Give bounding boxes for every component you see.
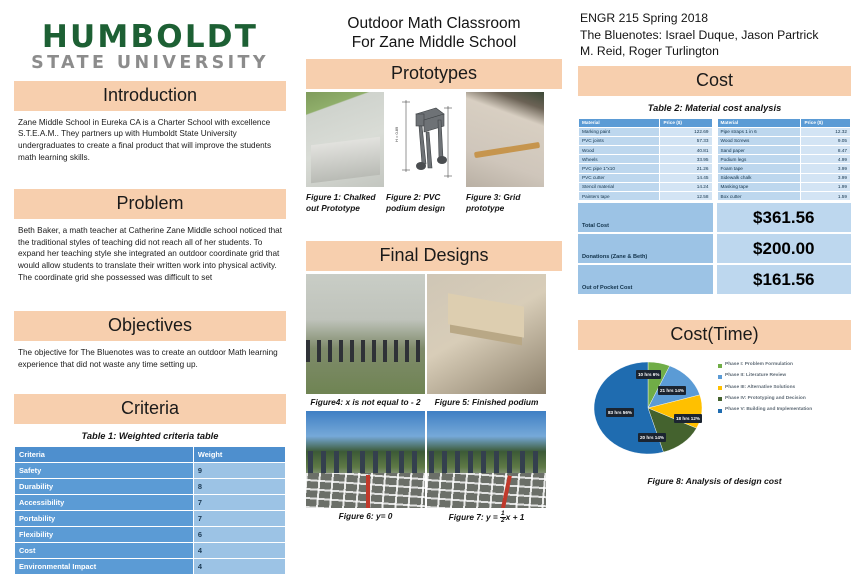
figure-2-image: H = 0.89 <box>386 92 464 187</box>
table-row: Masking tape1.99 <box>717 182 851 191</box>
figure-3-image <box>466 92 544 187</box>
course-line-3: M. Reid, Roger Turlington <box>580 43 851 60</box>
material-name: Sidewalk chalk <box>717 173 801 182</box>
table-row: PVC joints57.33 <box>579 136 713 145</box>
criteria-name: Safety <box>15 463 194 479</box>
course-line-1: ENGR 215 Spring 2018 <box>580 10 851 27</box>
material-price: 21.26 <box>660 164 712 173</box>
material-price: 12.58 <box>660 192 712 201</box>
table-row: Wheels33.95 <box>579 155 713 164</box>
figure-3-caption: Figure 3: Grid prototype <box>466 192 544 213</box>
out-of-pocket-value: $161.56 <box>717 265 851 294</box>
material-header: Material <box>579 118 660 127</box>
table-row: Wood40.81 <box>579 146 713 155</box>
legend-swatch-icon <box>718 397 722 401</box>
material-price: 3.99 <box>801 164 851 173</box>
table-row: Marking paint122.69 <box>579 127 713 136</box>
pie-label-phase-2: 21 hrs 14% <box>658 386 686 394</box>
middle-column: Outdoor Math Classroom For Zane Middle S… <box>300 0 568 576</box>
material-name: Wheels <box>579 155 660 164</box>
legend-label: Phase I: Problem Formulation <box>725 362 793 368</box>
section-heading-criteria: Criteria <box>14 394 286 424</box>
problem-text: Beth Baker, a math teacher at Catherine … <box>14 219 286 283</box>
material-price: 4.99 <box>801 155 851 164</box>
section-heading-cost: Cost <box>578 66 851 96</box>
figure-5-caption: Figure 5: Finished podium <box>427 397 546 408</box>
final-design-images-row1 <box>306 274 562 394</box>
criteria-weight: 7 <box>193 495 285 511</box>
figure-6-image <box>306 411 425 508</box>
figure-4-caption: Figure4: x is not equal to - 2 <box>306 397 425 408</box>
material-table-caption: Table 2: Material cost analysis <box>578 96 851 118</box>
material-price: 12.32 <box>801 127 851 136</box>
material-price: 1.99 <box>801 182 851 191</box>
material-price: 8.47 <box>801 146 851 155</box>
pie-label-phase-1: 10 hrs 6% <box>636 370 661 378</box>
criteria-name: Accessibility <box>15 495 194 511</box>
cost-summary: Total Cost $361.56 Donations (Zane & Bet… <box>578 203 851 294</box>
poster-title-line2: For Zane Middle School <box>306 33 562 52</box>
table-row: Accessibility7 <box>15 495 286 511</box>
material-table-left: Material Price ($) Marking paint122.69 P… <box>578 118 713 202</box>
material-price: 9.05 <box>801 136 851 145</box>
legend-label: Phase III: Alternative Solutions <box>725 385 795 391</box>
out-of-pocket-label: Out of Pocket Cost <box>578 265 713 294</box>
table-row: Portability7 <box>15 511 286 527</box>
criteria-weight: 9 <box>193 463 285 479</box>
legend-label: Phase V: Building and Implementation <box>725 407 812 413</box>
figure-5-image <box>427 274 546 394</box>
red-axis-line <box>366 475 370 508</box>
figure-1-image <box>306 92 384 187</box>
logo-state-university: STATE UNIVERSITY <box>14 53 286 75</box>
section-heading-problem: Problem <box>14 189 286 219</box>
section-heading-introduction: Introduction <box>14 81 286 111</box>
legend-swatch-icon <box>718 364 722 368</box>
figure-6-caption: Figure 6: y= 0 <box>306 511 425 525</box>
table-row: Pipe straps 1 in 612.32 <box>717 127 851 136</box>
section-heading-objectives: Objectives <box>14 311 286 341</box>
material-name: Wood Screws <box>717 136 801 145</box>
criteria-table-caption: Table 1: Weighted criteria table <box>14 424 286 446</box>
legend-item: Phase IV: Prototyping and Decision <box>718 396 830 402</box>
introduction-text: Zane Middle School in Eureka CA is a Cha… <box>14 111 286 163</box>
pie-chart-legend: Phase I: Problem Formulation Phase II: L… <box>718 362 830 418</box>
coordinate-grid <box>427 473 546 508</box>
material-cost-tables: Material Price ($) Marking paint122.69 P… <box>578 118 851 202</box>
right-column: ENGR 215 Spring 2018 The Bluenotes: Isra… <box>568 0 865 576</box>
figure-1-caption: Figure 1: Chalked out Prototype <box>306 192 384 213</box>
criteria-name: Environmental Impact <box>15 559 194 575</box>
section-heading-prototypes: Prototypes <box>306 59 562 89</box>
material-price: 1.59 <box>801 192 851 201</box>
material-name: Sand paper <box>717 146 801 155</box>
figure-8-caption: Figure 8: Analysis of design cost <box>578 476 851 486</box>
material-name: Foam tape <box>717 164 801 173</box>
table-row: Foam tape3.99 <box>717 164 851 173</box>
table-header-row: Criteria Weight <box>15 447 286 463</box>
table-row: Painters tape12.58 <box>579 192 713 201</box>
table-row: PVC pipe 1"x1021.26 <box>579 164 713 173</box>
legend-item: Phase III: Alternative Solutions <box>718 385 830 391</box>
criteria-header-criteria: Criteria <box>15 447 194 463</box>
total-cost-label: Total Cost <box>578 203 713 232</box>
svg-text:H = 0.89: H = 0.89 <box>394 126 399 142</box>
section-heading-cost-time: Cost(Time) <box>578 320 851 350</box>
final-design-captions-row2: Figure 6: y= 0 Figure 7: y = 1 2 x + 1 <box>306 511 562 525</box>
criteria-weight: 4 <box>193 543 285 559</box>
summary-row-total: Total Cost $361.56 <box>578 203 851 232</box>
total-cost-value: $361.56 <box>717 203 851 232</box>
criteria-weight: 8 <box>193 479 285 495</box>
table-row: Box cutter1.59 <box>717 192 851 201</box>
table-row: PVC cutter14.45 <box>579 173 713 182</box>
figure-2-caption: Figure 2: PVC podium design <box>386 192 464 213</box>
legend-item: Phase V: Building and Implementation <box>718 407 830 413</box>
table-header-row: Material Price ($) <box>717 118 851 127</box>
prototype-captions: Figure 1: Chalked out Prototype Figure 2… <box>306 192 562 213</box>
table-row: Stencil material14.24 <box>579 182 713 191</box>
legend-swatch-icon <box>718 409 722 413</box>
material-price: 14.45 <box>660 173 712 182</box>
poster-title: Outdoor Math Classroom For Zane Middle S… <box>306 6 562 59</box>
material-price: 122.69 <box>660 127 712 136</box>
legend-label: Phase II: Literature Review <box>725 373 786 379</box>
table-row: Safety9 <box>15 463 286 479</box>
legend-item: Phase II: Literature Review <box>718 373 830 379</box>
criteria-name: Durability <box>15 479 194 495</box>
university-logo: HUMBOLDT STATE UNIVERSITY <box>14 6 286 81</box>
pie-label-phase-5: 83 hrs 56% <box>606 408 634 416</box>
material-price: 14.24 <box>660 182 712 191</box>
material-name: Masking tape <box>717 182 801 191</box>
poster-title-line1: Outdoor Math Classroom <box>306 14 562 33</box>
summary-row-donations: Donations (Zane & Beth) $200.00 <box>578 234 851 263</box>
left-column: HUMBOLDT STATE UNIVERSITY Introduction Z… <box>0 0 300 576</box>
criteria-weight: 7 <box>193 511 285 527</box>
figure-7-image <box>427 411 546 508</box>
table-row: Flexibility6 <box>15 527 286 543</box>
prototype-images: H = 0.89 <box>306 92 562 187</box>
material-price: 33.95 <box>660 155 712 164</box>
criteria-name: Cost <box>15 543 194 559</box>
material-name: Wood <box>579 146 660 155</box>
figure-4-image <box>306 274 425 394</box>
legend-swatch-icon <box>718 386 722 390</box>
figure-7-suffix: x + 1 <box>506 512 525 522</box>
material-name: PVC pipe 1"x10 <box>579 164 660 173</box>
criteria-name: Flexibility <box>15 527 194 543</box>
table-row: Environmental Impact4 <box>15 559 286 575</box>
pie-chart: 10 hrs 6% 21 hrs 14% 18 hrs 12% 20 hrs 1… <box>578 356 851 474</box>
section-heading-final-designs: Final Designs <box>306 241 562 271</box>
material-price: 3.99 <box>801 173 851 182</box>
poster: HUMBOLDT STATE UNIVERSITY Introduction Z… <box>0 0 865 576</box>
logo-humboldt: HUMBOLDT <box>14 22 286 53</box>
material-name: Stencil material <box>579 182 660 191</box>
criteria-header-weight: Weight <box>193 447 285 463</box>
table-row: Cost4 <box>15 543 286 559</box>
criteria-name: Portability <box>15 511 194 527</box>
objectives-text: The objective for The Bluenotes was to c… <box>14 341 286 370</box>
material-table-right: Material Price ($) Pipe straps 1 in 612.… <box>717 118 852 202</box>
price-header: Price ($) <box>801 118 851 127</box>
material-name: Painters tape <box>579 192 660 201</box>
course-line-2: The Bluenotes: Israel Duque, Jason Partr… <box>580 27 851 44</box>
legend-swatch-icon <box>718 375 722 379</box>
final-design-captions-row1: Figure4: x is not equal to - 2 Figure 5:… <box>306 397 562 408</box>
material-name: Marking paint <box>579 127 660 136</box>
table-row: Podium legs4.99 <box>717 155 851 164</box>
criteria-weight: 6 <box>193 527 285 543</box>
legend-item: Phase I: Problem Formulation <box>718 362 830 368</box>
figure-7-caption: Figure 7: y = 1 2 x + 1 <box>427 511 546 525</box>
material-name: Pipe straps 1 in 6 <box>717 127 801 136</box>
table-row: Durability8 <box>15 479 286 495</box>
material-name: PVC joints <box>579 136 660 145</box>
pie-label-phase-4: 20 hrs 14% <box>638 433 666 441</box>
criteria-table: Criteria Weight Safety9 Durability8 Acce… <box>14 446 286 575</box>
table-header-row: Material Price ($) <box>579 118 713 127</box>
final-design-images-row2 <box>306 411 562 508</box>
pie-label-phase-3: 18 hrs 12% <box>674 414 702 422</box>
material-name: Podium legs <box>717 155 801 164</box>
material-name: PVC cutter <box>579 173 660 182</box>
material-name: Box cutter <box>717 192 801 201</box>
material-price: 40.81 <box>660 146 712 155</box>
legend-label: Phase IV: Prototyping and Decision <box>725 396 806 402</box>
table-row: Sidewalk chalk3.99 <box>717 173 851 182</box>
material-header: Material <box>717 118 801 127</box>
price-header: Price ($) <box>660 118 712 127</box>
figure-7-prefix: Figure 7: y = <box>449 512 500 522</box>
table-row: Sand paper8.47 <box>717 146 851 155</box>
table-row: Wood Screws9.05 <box>717 136 851 145</box>
donations-value: $200.00 <box>717 234 851 263</box>
material-price: 57.33 <box>660 136 712 145</box>
course-info: ENGR 215 Spring 2018 The Bluenotes: Isra… <box>578 6 851 66</box>
donations-label: Donations (Zane & Beth) <box>578 234 713 263</box>
criteria-weight: 4 <box>193 559 285 575</box>
summary-row-out-of-pocket: Out of Pocket Cost $161.56 <box>578 265 851 294</box>
